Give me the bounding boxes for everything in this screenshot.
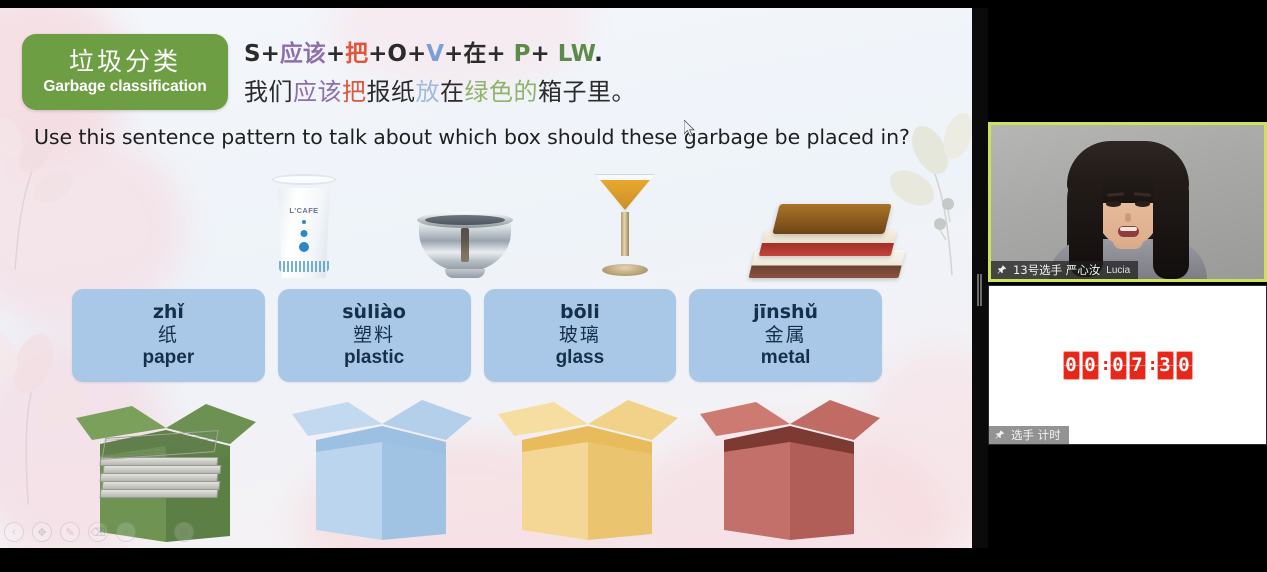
zoom-icon[interactable]: ⌕ xyxy=(116,522,136,542)
sentence-pattern: S+应该+把+O+V+在+ P+ LW. 我们应该把报纸放在绿色的箱子里。 xyxy=(244,40,764,108)
timer-name-bar: 选手 计时 xyxy=(989,426,1069,444)
vocab-english: plastic xyxy=(344,347,404,369)
timer-digit: 3 xyxy=(1157,351,1174,380)
timer-label: 选手 计时 xyxy=(1011,427,1061,443)
blue-box-image[interactable] xyxy=(286,400,474,540)
topic-badge-chinese: 垃圾分类 xyxy=(69,48,181,76)
book-stack-image xyxy=(752,190,902,278)
vocab-pinyin: jīnshǔ xyxy=(753,302,818,324)
vocab-card-plastic[interactable]: sùliào 塑料 plastic xyxy=(278,289,471,382)
yellow-box-image[interactable] xyxy=(492,400,680,540)
topic-badge: 垃圾分类 Garbage classification xyxy=(22,34,228,110)
video-panel: 13号选手 严心汝 Lucia 0 0 : 0 7 : 3 0 xyxy=(988,0,1267,572)
timer-digit: 0 xyxy=(1063,351,1080,380)
shared-slide[interactable]: 垃圾分类 Garbage classification S+应该+把+O+V+在… xyxy=(0,8,972,548)
pin-icon xyxy=(997,265,1007,276)
vocab-card-paper[interactable]: zhǐ 纸 paper xyxy=(72,289,265,382)
timer-digit: 0 xyxy=(1082,351,1099,380)
red-box-image[interactable] xyxy=(694,400,882,540)
timer-digit: 7 xyxy=(1129,351,1146,380)
instruction-text: Use this sentence pattern to talk about … xyxy=(34,125,910,149)
pointer-icon[interactable]: ✥ xyxy=(32,522,52,542)
back-icon[interactable]: ‹ xyxy=(4,522,24,542)
newspaper-stack xyxy=(100,436,218,498)
vocab-pinyin: sùliào xyxy=(342,302,406,324)
cocktail-glass-image xyxy=(592,168,658,278)
vocab-english: glass xyxy=(556,347,605,369)
paper-cup-label: L'CAFE xyxy=(272,206,336,215)
object-row: L'CAFE xyxy=(72,158,902,278)
countdown-timer: 0 0 : 0 7 : 3 0 xyxy=(1063,351,1193,380)
metal-bowl-image xyxy=(417,210,513,278)
vocab-card-glass[interactable]: bōli 玻璃 glass xyxy=(484,289,677,382)
vocab-hanzi: 玻璃 xyxy=(559,324,601,348)
paper-cup-image: L'CAFE xyxy=(272,178,336,278)
participant-name-bar: 13号选手 严心汝 Lucia xyxy=(991,261,1138,279)
vocab-hanzi: 塑料 xyxy=(353,324,395,348)
pattern-line-1: S+应该+把+O+V+在+ P+ LW. xyxy=(244,40,764,69)
vocab-pinyin: bōli xyxy=(560,302,600,324)
pen-icon[interactable]: ✎ xyxy=(60,522,80,542)
vocab-card-metal[interactable]: jīnshǔ 金属 metal xyxy=(689,289,882,382)
vocab-hanzi: 纸 xyxy=(158,324,179,348)
vocab-pinyin: zhǐ xyxy=(153,302,184,324)
vocab-english: metal xyxy=(761,347,811,369)
more-icon[interactable]: ⊖ xyxy=(174,522,194,542)
vocab-hanzi: 金属 xyxy=(765,324,807,348)
green-box-image[interactable] xyxy=(70,400,258,540)
meeting-window: 垃圾分类 Garbage classification S+应该+把+O+V+在… xyxy=(0,0,1267,572)
timer-digit: 0 xyxy=(1176,351,1193,380)
splitter-grip-icon[interactable] xyxy=(976,274,983,306)
participant-name-cn: 13号选手 严心汝 xyxy=(1013,262,1100,278)
vocabulary-card-row: zhǐ 纸 paper sùliào 塑料 plastic bōli 玻璃 gl… xyxy=(72,289,882,382)
timer-separator: : xyxy=(1148,355,1155,375)
slide-toolbar[interactable]: ‹ ✥ ✎ ⌫ ⌕ ⊖ xyxy=(4,522,194,542)
timer-digit: 0 xyxy=(1110,351,1127,380)
pattern-line-2: 我们应该把报纸放在绿色的箱子里。 xyxy=(244,77,764,108)
participant-avatar xyxy=(1053,127,1203,279)
timer-video-tile[interactable]: 0 0 : 0 7 : 3 0 选手 计时 xyxy=(988,285,1267,445)
vocab-english: paper xyxy=(143,347,195,369)
pin-icon xyxy=(995,430,1005,441)
participant-name-en: Lucia xyxy=(1106,265,1130,276)
eraser-icon[interactable]: ⌫ xyxy=(88,522,108,542)
participant-video-tile[interactable]: 13号选手 严心汝 Lucia xyxy=(988,122,1267,282)
panel-splitter[interactable] xyxy=(972,8,988,548)
timer-separator: : xyxy=(1101,355,1108,375)
topic-badge-english: Garbage classification xyxy=(43,78,206,96)
